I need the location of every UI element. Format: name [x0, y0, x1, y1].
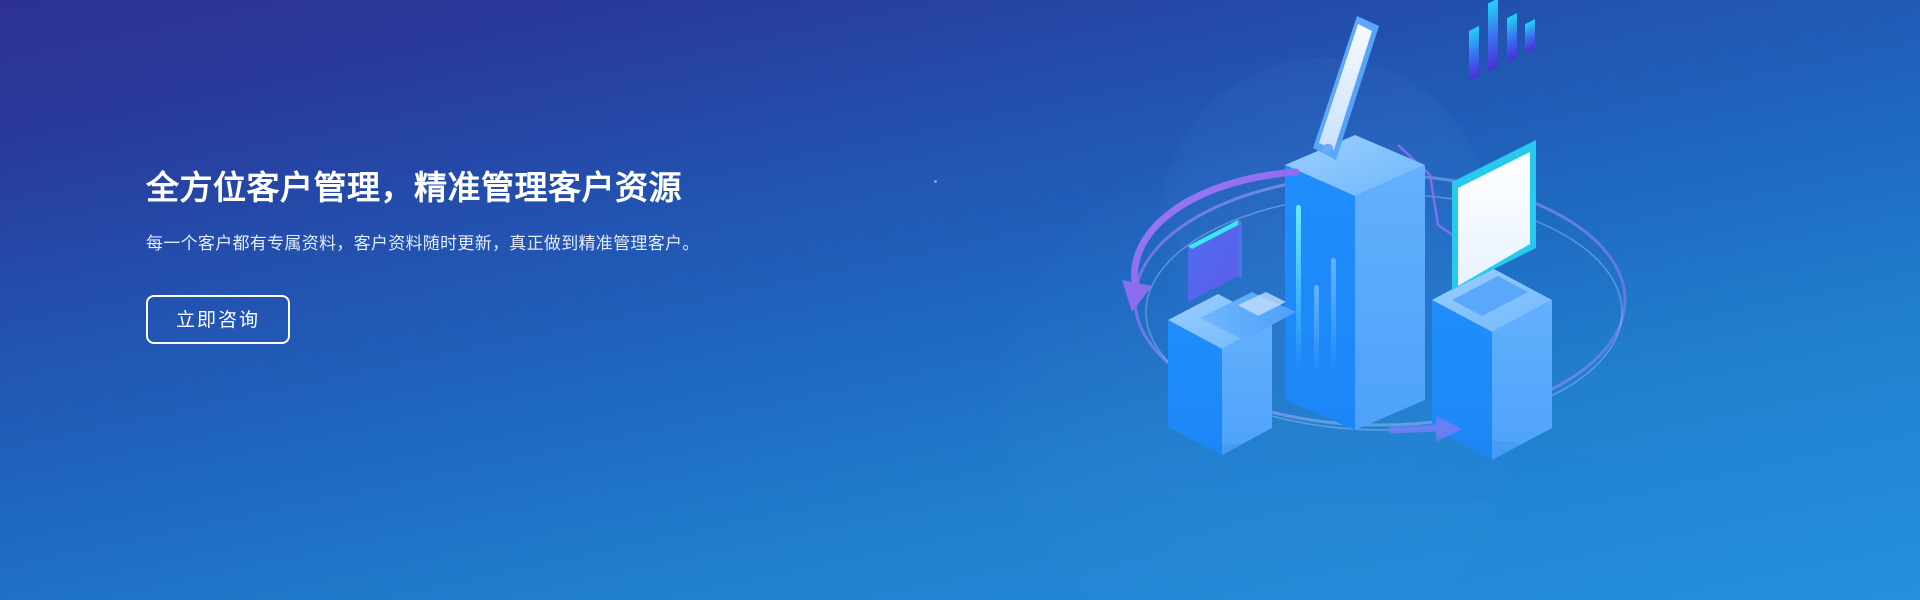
sparkle-dot — [934, 180, 937, 183]
monitor-icon — [1452, 0, 1536, 316]
hero-copy: 全方位客户管理，精准管理客户资源 每一个客户都有专属资料，客户资料随时更新，真正… — [146, 168, 786, 344]
hero-banner: 全方位客户管理，精准管理客户资源 每一个客户都有专属资料，客户资料随时更新，真正… — [0, 0, 1920, 600]
hero-illustration — [1100, 0, 1660, 600]
center-pedestal — [1285, 135, 1425, 430]
tablet-icon — [1313, 16, 1379, 160]
monitor-chart — [1469, 0, 1535, 81]
hero-subtitle: 每一个客户都有专属资料，客户资料随时更新，真正做到精准管理客户。 — [146, 230, 726, 258]
consult-now-button[interactable]: 立即咨询 — [146, 295, 290, 344]
page-title: 全方位客户管理，精准管理客户资源 — [146, 168, 786, 208]
